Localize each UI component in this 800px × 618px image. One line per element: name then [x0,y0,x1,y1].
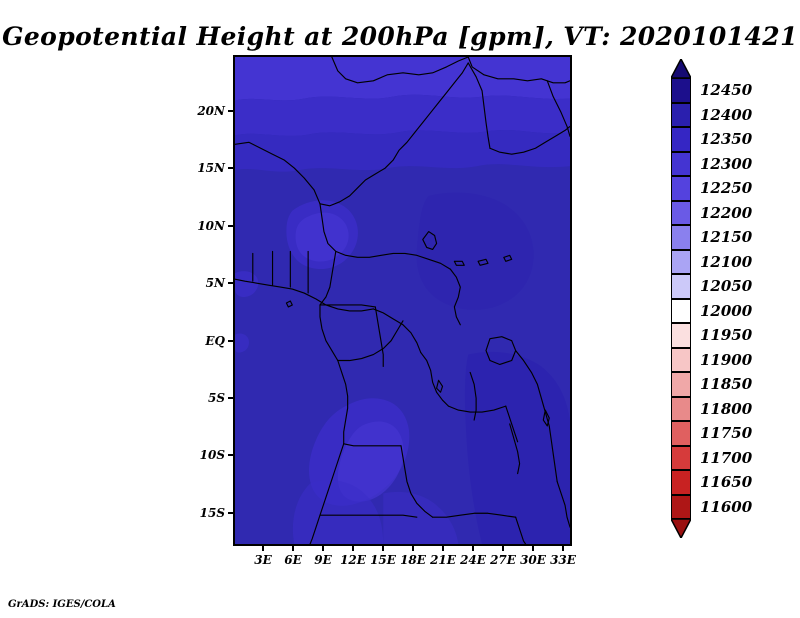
colorbar-label-11750: 11750 [700,424,752,442]
colorbar-cap-bottom [671,519,691,538]
colorbar-label-12250: 12250 [700,179,752,197]
footer-credit: GrADS: IGES/COLA [8,599,116,610]
lat-tick-15S [228,512,233,514]
colorbar-label-11700: 11700 [700,449,752,467]
lat-tick-10N [228,225,233,227]
colorbar-label-11800: 11800 [700,400,752,418]
lon-tick-21E [442,546,444,551]
lon-label-21E: 21E [430,553,456,567]
lon-label-30E: 30E [520,553,546,567]
lon-label-6E: 6E [284,553,302,567]
lat-tick-20N [228,110,233,112]
colorbar-label-12000: 12000 [700,302,752,320]
lat-tick-5S [228,397,233,399]
colorbar-label-12050: 12050 [700,277,752,295]
colorbar-label-11600: 11600 [700,498,752,516]
colorbar-label-11950: 11950 [700,326,752,344]
colorbar-band-7[interactable] [671,250,691,275]
lat-label-10S: 10S [180,448,225,462]
colorbar-band-3[interactable] [671,152,691,177]
colorbar-band-5[interactable] [671,201,691,226]
lat-label-15S: 15S [180,506,225,520]
colorbar-band-12[interactable] [671,372,691,397]
lon-tick-33E [562,546,564,551]
lon-tick-9E [322,546,324,551]
lat-tick-EQ [228,340,233,342]
lon-tick-6E [292,546,294,551]
lon-tick-27E [502,546,504,551]
lat-label-5N: 5N [180,276,225,290]
lon-tick-24E [472,546,474,551]
colorbar-cap-top [671,59,691,78]
colorbar-band-8[interactable] [671,274,691,299]
colorbar-band-15[interactable] [671,446,691,471]
lon-label-27E: 27E [490,553,516,567]
colorbar-band-0[interactable] [671,78,691,103]
lon-tick-12E [352,546,354,551]
colorbar[interactable] [671,78,691,519]
colorbar-label-12350: 12350 [700,130,752,148]
colorbar-band-1[interactable] [671,103,691,128]
colorbar-band-13[interactable] [671,397,691,422]
lon-label-3E: 3E [254,553,272,567]
colorbar-label-12450: 12450 [700,81,752,99]
colorbar-band-11[interactable] [671,348,691,373]
colorbar-band-14[interactable] [671,421,691,446]
lat-label-20N: 20N [180,104,225,118]
colorbar-band-6[interactable] [671,225,691,250]
lon-label-9E: 9E [314,553,332,567]
colorbar-label-12300: 12300 [700,155,752,173]
lat-tick-10S [228,454,233,456]
page-title: Geopotential Height at 200hPa [gpm], VT:… [0,22,800,51]
coastline-and-borders-overlay [235,57,570,544]
colorbar-label-11850: 11850 [700,375,752,393]
lon-tick-30E [532,546,534,551]
colorbar-label-12100: 12100 [700,253,752,271]
lon-label-12E: 12E [340,553,366,567]
lat-label-EQ: EQ [180,334,225,348]
lon-tick-3E [262,546,264,551]
colorbar-band-9[interactable] [671,299,691,324]
colorbar-label-11650: 11650 [700,473,752,491]
lat-label-5S: 5S [180,391,225,405]
lon-tick-18E [412,546,414,551]
colorbar-band-10[interactable] [671,323,691,348]
lon-label-18E: 18E [400,553,426,567]
lon-tick-15E [382,546,384,551]
lat-tick-15N [228,167,233,169]
colorbar-band-2[interactable] [671,127,691,152]
lat-label-15N: 15N [180,161,225,175]
colorbar-label-12150: 12150 [700,228,752,246]
map-plot-area[interactable] [233,55,572,546]
lat-tick-5N [228,282,233,284]
lon-label-15E: 15E [370,553,396,567]
colorbar-band-16[interactable] [671,470,691,495]
lon-label-24E: 24E [460,553,486,567]
colorbar-label-11900: 11900 [700,351,752,369]
colorbar-band-4[interactable] [671,176,691,201]
lat-label-10N: 10N [180,219,225,233]
lon-label-33E: 33E [550,553,576,567]
colorbar-label-12200: 12200 [700,204,752,222]
colorbar-band-17[interactable] [671,495,691,520]
colorbar-label-12400: 12400 [700,106,752,124]
